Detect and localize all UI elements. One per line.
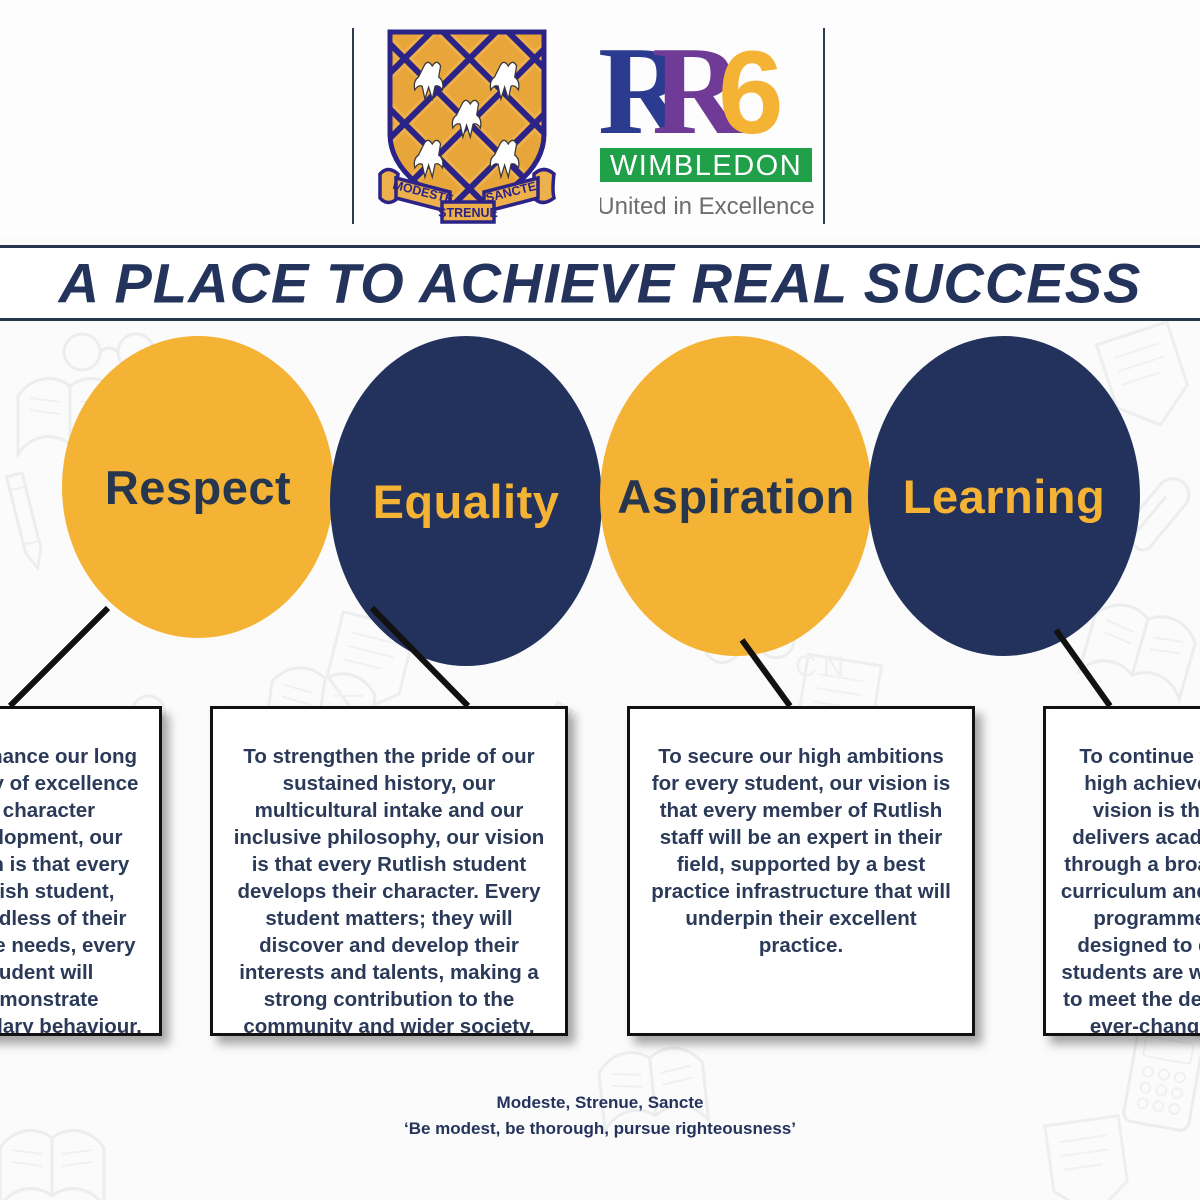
footer-motto-latin: Modeste, Strenue, Sancte — [0, 1090, 1200, 1116]
value-circle-aspiration[interactable]: Aspiration — [600, 336, 872, 656]
value-circle-equality[interactable]: Equality — [330, 336, 602, 666]
statement-text-equality: To strengthen the pride of our sustained… — [227, 743, 551, 1036]
statement-text-learning: To continue to promote high achievement,… — [1060, 743, 1200, 1036]
statement-box-learning: To continue to promote high achievement,… — [1043, 706, 1200, 1036]
value-circle-learning[interactable]: Learning — [868, 336, 1140, 656]
value-label-equality: Equality — [373, 474, 560, 529]
footer-motto: Modeste, Strenue, Sancte ‘Be modest, be … — [0, 1090, 1200, 1141]
values-circle-row: Respect Equality Aspiration Learning — [0, 0, 1200, 1200]
statement-box-aspiration: To secure our high ambitions for every s… — [627, 706, 975, 1036]
footer-motto-english: ‘Be modest, be thorough, pursue righteou… — [0, 1116, 1200, 1142]
value-label-respect: Respect — [105, 460, 291, 515]
statement-box-equality: To strengthen the pride of our sustained… — [210, 706, 568, 1036]
value-label-learning: Learning — [903, 469, 1105, 524]
statement-text-aspiration: To secure our high ambitions for every s… — [644, 743, 958, 959]
value-circle-respect[interactable]: Respect — [62, 336, 334, 638]
statement-text-respect: To enhance our long history of excellenc… — [0, 743, 145, 1036]
value-label-aspiration: Aspiration — [617, 469, 854, 524]
statement-box-respect: To enhance our long history of excellenc… — [0, 706, 162, 1036]
